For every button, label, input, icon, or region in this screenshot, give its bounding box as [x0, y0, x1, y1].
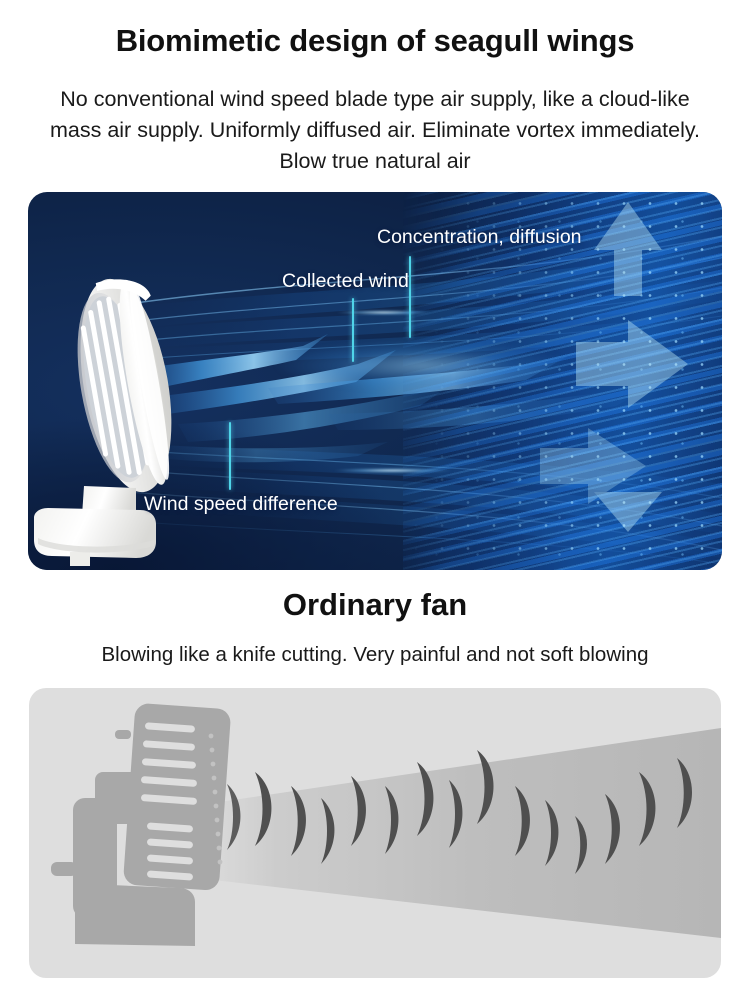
diffusion-arrow-icon-down: [594, 492, 662, 532]
page-subtitle: No conventional wind speed blade type ai…: [40, 84, 710, 177]
secondary-title: Ordinary fan: [0, 586, 750, 624]
fan-silhouette-icon: [51, 703, 231, 946]
ordinary-fan-graphic: [29, 688, 721, 978]
secondary-subtitle: Blowing like a knife cutting. Very painf…: [20, 641, 730, 669]
label-wind-speed-difference: Wind speed difference: [144, 492, 338, 516]
label-concentration-diffusion: Concentration, diffusion: [377, 225, 582, 249]
ordinary-fan-illustration-panel: [29, 688, 721, 978]
airflow-core-glow: [264, 336, 583, 396]
diffusion-arrow-icon-up: [594, 202, 662, 296]
glow-highlight-upper: [324, 310, 444, 315]
leader-line-collected: [352, 298, 354, 362]
label-collected-wind: Collected wind: [282, 269, 409, 293]
fan-icon: [28, 236, 208, 566]
leader-line-wind-speed: [229, 422, 231, 490]
product-feature-page: Biomimetic design of seagull wings No co…: [0, 0, 750, 1000]
diffusion-arrow-icon-right: [576, 320, 688, 408]
page-title: Biomimetic design of seagull wings: [0, 22, 750, 60]
leader-line-concentration: [409, 256, 411, 338]
airflow-illustration-panel: Concentration, diffusion Collected wind …: [28, 192, 722, 570]
